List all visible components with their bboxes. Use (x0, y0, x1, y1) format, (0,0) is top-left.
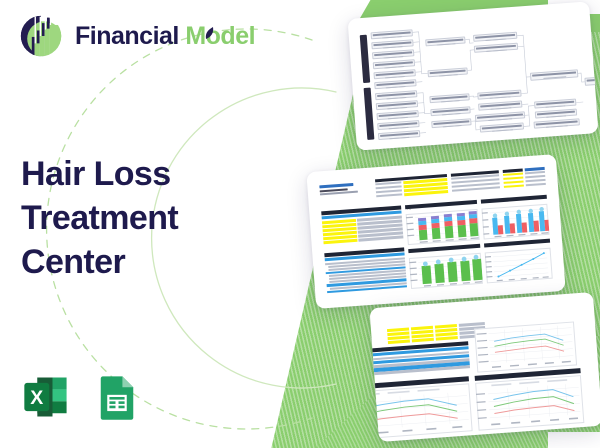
indicators-panel (451, 170, 500, 195)
forecast-charts-screenshot[interactable] (369, 292, 600, 442)
line-chart-investment (485, 248, 553, 284)
chart-forecast-bottom-left (369, 383, 472, 440)
financial-ratio-tree-screenshot[interactable] (347, 1, 598, 150)
bar-chart-cash-flow (409, 253, 483, 289)
brand-word-model: Model (185, 22, 255, 50)
page-title-line-2: Treatment (21, 196, 271, 240)
cash-overview-table (324, 247, 407, 295)
page-title-line-3: Center (21, 240, 271, 284)
poster-canvas: Financial Model Hair Loss Treatment Cent… (0, 0, 600, 448)
page-title: Hair Loss Treatment Center (21, 152, 271, 285)
forecast-main-table (369, 341, 470, 381)
chart-forecast-bottom-right (475, 375, 584, 431)
leaf-accent-icon (205, 27, 214, 40)
brand-word-financial: Financial (75, 22, 179, 50)
chart-investment-analysis (484, 239, 553, 284)
line-chart-forecast-a (474, 321, 577, 372)
chart-top-revenue-streams: ● ● ● (405, 200, 480, 245)
microsoft-excel-icon[interactable]: X (20, 371, 72, 423)
google-sheets-icon[interactable] (91, 371, 143, 423)
cost-overview-table (321, 205, 403, 247)
svg-text:X: X (30, 387, 43, 409)
dashboard-title (319, 183, 358, 195)
page-title-line-1: Hair Loss (21, 152, 271, 196)
assumptions-panel (375, 174, 448, 201)
chart-profitability (481, 195, 550, 240)
brand-wordmark: Financial Model (75, 24, 255, 49)
brand-logo: Financial Model (18, 13, 255, 59)
tree-connectors (347, 1, 598, 150)
financial-model-circle-chart-logo (18, 13, 64, 59)
key-metrics-panel (503, 167, 546, 192)
chart-forecast-top-right (474, 321, 577, 372)
grouped-bar-chart (481, 204, 549, 240)
stacked-bar-chart (406, 209, 480, 245)
file-format-icons: X (20, 371, 143, 423)
line-chart-forecast-c (475, 375, 584, 431)
line-chart-forecast-b (369, 383, 472, 440)
financial-dashboard-screenshot[interactable]: ● ● ● (306, 154, 565, 309)
chart-cash-flow (408, 244, 483, 289)
